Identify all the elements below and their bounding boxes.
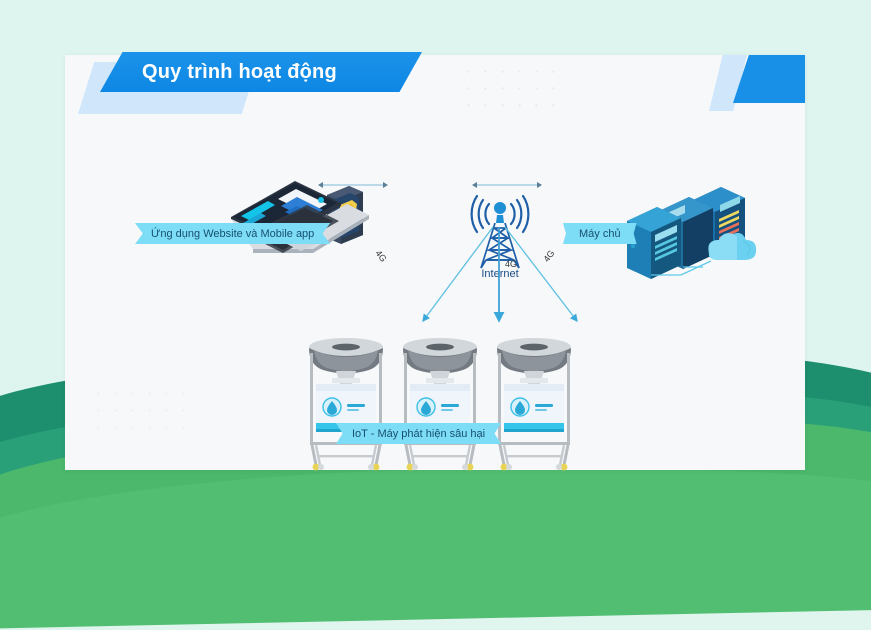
iot-device-center [396, 337, 484, 472]
page-title: Quy trình hoạt động [142, 61, 337, 84]
pest-detection-machine-icon [302, 337, 390, 472]
content-card: Ứng dụng Website và Mobile app [65, 55, 805, 470]
title-banner: Quy trình hoạt động [100, 52, 422, 92]
client-apps-label-text: Ứng dụng Website và Mobile app [135, 223, 330, 244]
link-label-4g-center: 4G [505, 259, 517, 269]
pest-detection-machine-icon [490, 337, 578, 472]
dot-pattern-decoration [460, 63, 570, 118]
link-internet-iot-right [505, 227, 577, 321]
server-rack-icon [617, 183, 767, 283]
link-internet-iot-left [423, 227, 493, 321]
iot-device-right [490, 337, 578, 472]
pest-detection-machine-icon [396, 337, 484, 472]
iot-device-left [302, 337, 390, 472]
iot-devices-label-text: IoT - Máy phát hiện sâu hại [336, 423, 501, 444]
connector-apps-internet [323, 184, 383, 186]
client-apps-label: Ứng dụng Website và Mobile app [135, 223, 330, 244]
server-icon [617, 183, 767, 283]
dot-pattern-decoration-2 [90, 385, 200, 440]
connector-internet-server [477, 184, 537, 186]
connector-internet-iot-group [315, 225, 575, 335]
iot-devices-label: IoT - Máy phát hiện sâu hại [336, 423, 501, 444]
